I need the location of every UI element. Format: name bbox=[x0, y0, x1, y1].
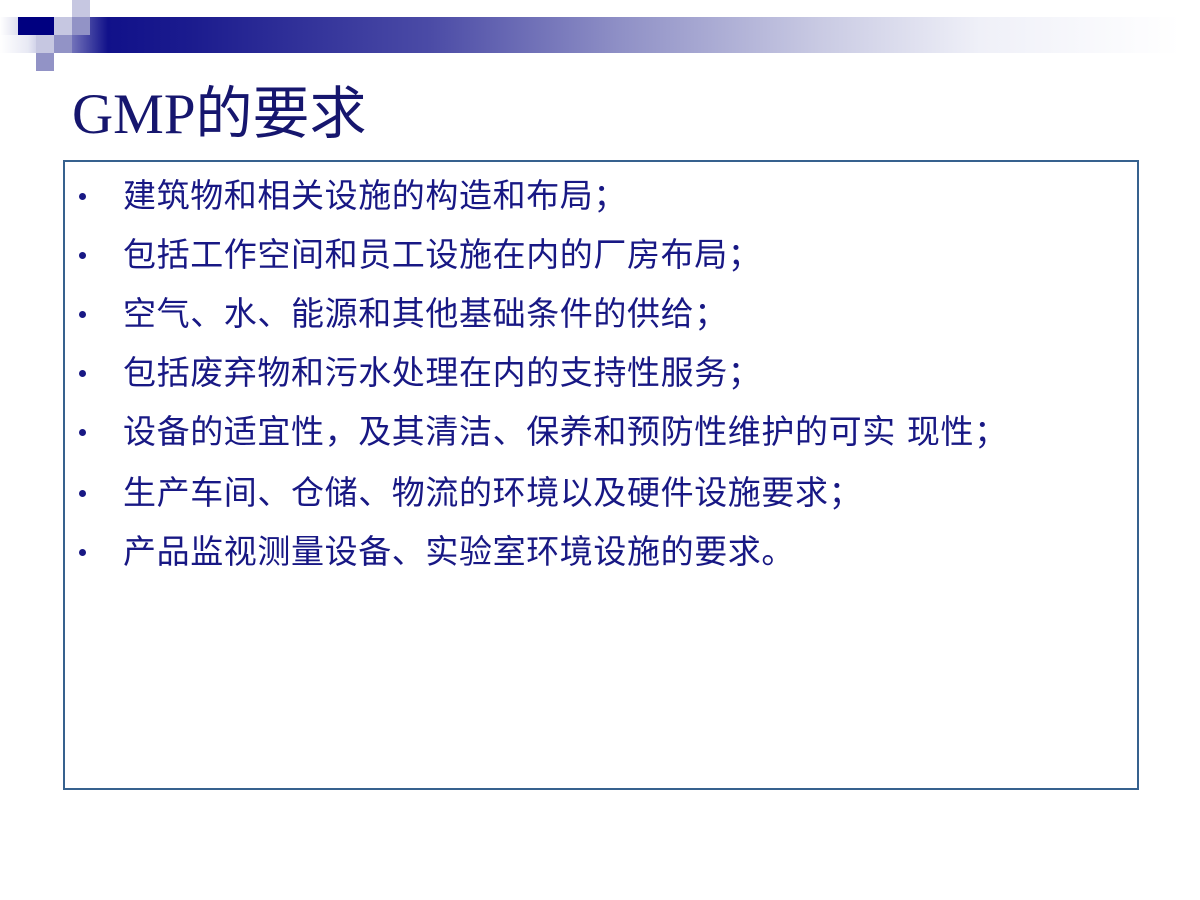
decor-fade-block bbox=[0, 17, 18, 35]
list-item-label: 建筑物和相关设施的构造和布局； bbox=[123, 172, 1137, 219]
slide-canvas: GMP的要求 建筑物和相关设施的构造和布局； 包括工作空间和员工设施在内的厂房布… bbox=[0, 0, 1200, 900]
bullet-dot-icon bbox=[79, 370, 86, 377]
list-item-label: 产品监视测量设备、实验室环境设施的要求。 bbox=[123, 528, 1137, 575]
content-frame: 建筑物和相关设施的构造和布局； 包括工作空间和员工设施在内的厂房布局； 空气、水… bbox=[63, 160, 1139, 790]
bullet-dot-icon bbox=[79, 252, 86, 259]
list-item-label: 空气、水、能源和其他基础条件的供给； bbox=[123, 290, 1137, 337]
requirements-list: 建筑物和相关设施的构造和布局； 包括工作空间和员工设施在内的厂房布局； 空气、水… bbox=[65, 162, 1137, 587]
list-item-label: 包括工作空间和员工设施在内的厂房布局； bbox=[123, 231, 1137, 278]
decor-square-light-2 bbox=[54, 17, 72, 35]
bullet-dot-icon bbox=[79, 311, 86, 318]
list-item: 建筑物和相关设施的构造和布局； bbox=[65, 172, 1137, 219]
decor-square-light-1 bbox=[72, 0, 90, 18]
list-item-label: 设备的适宜性，及其清洁、保养和预防性维护的可实 现性； bbox=[123, 408, 1107, 455]
bullet-dot-icon bbox=[79, 549, 86, 556]
decor-square-light-3 bbox=[36, 35, 54, 53]
list-item: 空气、水、能源和其他基础条件的供给； bbox=[65, 290, 1137, 337]
decor-square-navy-1 bbox=[18, 17, 54, 35]
list-item-label: 包括废弃物和污水处理在内的支持性服务； bbox=[123, 349, 1137, 396]
bullet-dot-icon bbox=[79, 490, 86, 497]
decor-square-mid-3 bbox=[36, 53, 54, 71]
page-title: GMP的要求 bbox=[72, 84, 972, 146]
list-item: 产品监视测量设备、实验室环境设施的要求。 bbox=[65, 528, 1137, 575]
bullet-dot-icon bbox=[79, 193, 86, 200]
list-item: 设备的适宜性，及其清洁、保养和预防性维护的可实 现性； bbox=[65, 408, 1137, 455]
list-item: 包括工作空间和员工设施在内的厂房布局； bbox=[65, 231, 1137, 278]
list-item: 包括废弃物和污水处理在内的支持性服务； bbox=[65, 349, 1137, 396]
decor-square-mid-1 bbox=[72, 17, 90, 35]
list-item: 生产车间、仓储、物流的环境以及硬件设施要求； bbox=[65, 469, 1137, 516]
slide-header-decoration bbox=[0, 0, 1200, 80]
header-gradient-bar bbox=[0, 17, 1200, 53]
decor-square-mid-2 bbox=[54, 35, 72, 53]
list-item-label: 生产车间、仓储、物流的环境以及硬件设施要求； bbox=[123, 469, 1137, 516]
bullet-dot-icon bbox=[79, 429, 86, 436]
